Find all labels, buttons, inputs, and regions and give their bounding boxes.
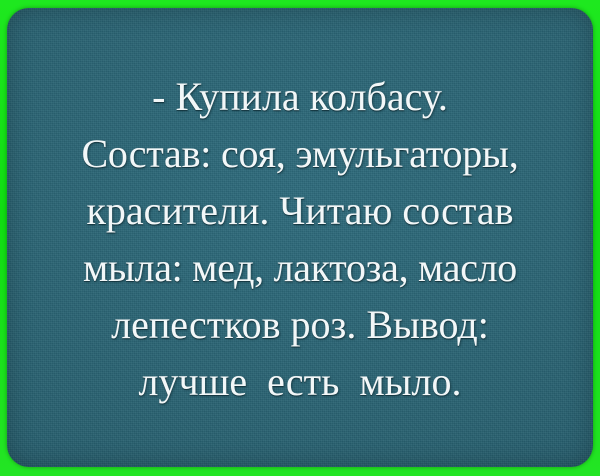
quote-line-6: лучше есть мыло.: [6, 353, 594, 410]
quote-line-4: мыла: мед, лактоза, масло: [6, 239, 594, 296]
meme-image: - Купила колбасу. Состав: соя, эмульгато…: [0, 0, 600, 476]
quote-line-2: Состав: соя, эмульгаторы,: [6, 125, 594, 182]
quote-line-1: - Купила колбасу.: [6, 68, 594, 125]
quote-line-3: красители. Читаю состав: [6, 182, 594, 239]
quote-text-block: - Купила колбасу. Состав: соя, эмульгато…: [0, 68, 600, 410]
quote-line-5: лепестков роз. Вывод:: [6, 296, 594, 353]
